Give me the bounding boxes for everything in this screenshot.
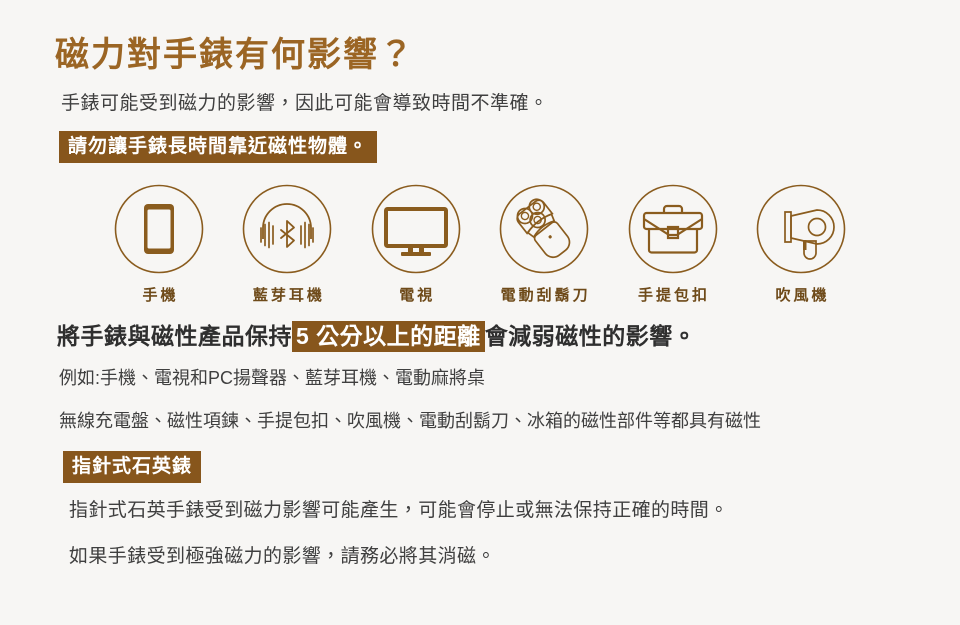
- page-title: 磁力對手錶有何影響？: [55, 0, 905, 77]
- distance-prefix: 將手錶與磁性產品保持: [57, 323, 292, 349]
- quartz-banner: 指針式石英錶: [63, 451, 201, 483]
- quartz-bar-container: 指針式石英錶: [55, 435, 905, 483]
- device-label: 藍芽耳機: [250, 284, 325, 305]
- device-label: 吹風機: [772, 284, 829, 305]
- device-item-smartphone: 手機: [97, 183, 221, 305]
- example-line-2: 無線充電盤、磁性項鍊、手提包扣、吹風機、電動刮鬍刀、冰箱的磁性部件等都具有磁性: [55, 392, 905, 435]
- device-label: 電視: [396, 284, 435, 305]
- distance-statement: 將手錶與磁性產品保持5 公分以上的距離會減弱磁性的影響。: [55, 305, 905, 352]
- television-icon: [370, 183, 462, 275]
- quartz-note-2: 如果手錶受到極強磁力的影響，請務必將其消磁。: [55, 526, 905, 572]
- device-item-electric-shaver: 電動刮鬍刀: [482, 183, 606, 305]
- distance-suffix: 會減弱磁性的影響。: [485, 323, 697, 349]
- distance-highlight: 5 公分以上的距離: [292, 321, 485, 352]
- intro-text: 手錶可能受到磁力的影響，因此可能會導致時間不準確。: [55, 77, 905, 119]
- bluetooth-headphones-icon: [241, 183, 333, 275]
- smartphone-icon: [113, 183, 205, 275]
- device-item-hair-dryer: 吹風機: [739, 183, 863, 305]
- device-label: 手提包扣: [635, 284, 710, 305]
- quartz-note-1: 指針式石英手錶受到磁力影響可能產生，可能會停止或無法保持正確的時間。: [55, 483, 905, 526]
- device-label: 電動刮鬍刀: [498, 284, 591, 305]
- device-item-television: 電視: [354, 183, 478, 305]
- warning-bar-container: 請勿讓手錶長時間靠近磁性物體。: [55, 118, 905, 163]
- example-line-1: 例如:手機、電視和PC揚聲器、藍芽耳機、電動麻將桌: [55, 352, 905, 392]
- infographic-page: 磁力對手錶有何影響？ 手錶可能受到磁力的影響，因此可能會導致時間不準確。 請勿讓…: [0, 0, 960, 625]
- device-item-briefcase-clasp: 手提包扣: [611, 183, 735, 305]
- device-item-bluetooth-headphones: 藍芽耳機: [225, 183, 349, 305]
- hair-dryer-icon: [755, 183, 847, 275]
- device-label: 手機: [139, 284, 178, 305]
- warning-banner: 請勿讓手錶長時間靠近磁性物體。: [59, 131, 377, 163]
- electric-shaver-icon: [498, 183, 590, 275]
- briefcase-clasp-icon: [627, 183, 719, 275]
- magnetic-device-icon-row: 手機 藍芽耳機: [55, 163, 905, 305]
